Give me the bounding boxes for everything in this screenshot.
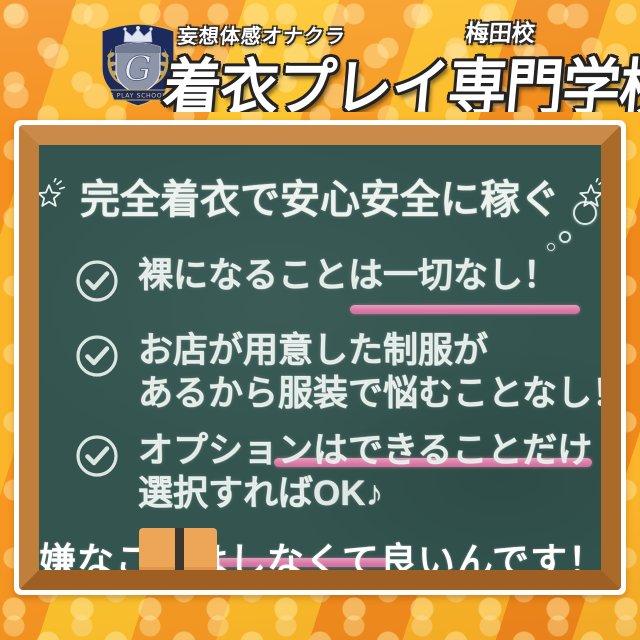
bullet-line: お店が用意した制服が [138, 330, 488, 371]
headline-text: 完全着衣で安心安全に稼ぐ [80, 167, 560, 225]
blackboard-wooden-frame: 完全着衣で安心安全に稼ぐ [19, 125, 621, 590]
bubble-small [547, 243, 555, 251]
pink-chalk [83, 580, 129, 587]
bullet-item: オプションはできることだけ 選択すればOK♪ [73, 430, 583, 515]
board-headline: 完全着衣で安心安全に稼ぐ [39, 167, 601, 225]
white-chalk [351, 580, 385, 587]
closing-statement: 嫌なことはしなくて良いんです！ [39, 531, 601, 570]
bullet-item: 裸になることは一切なし！ [73, 255, 583, 305]
blackboard-panel: 完全着衣で安心安全に稼ぐ [14, 120, 626, 595]
sparkle-star-icon [39, 178, 67, 214]
bullet-line: 裸になることは一切なし！ [138, 255, 558, 296]
promo-banner: G E PLAY SCHOOL 妄想体感オナクラ 着衣プレイ専門学校 梅田校 [0, 0, 640, 640]
bullet-line: 選択すればOK♪ [138, 473, 383, 514]
yellow-chalk [301, 580, 341, 587]
white-chalk [599, 580, 621, 587]
footer-polka-dots [0, 595, 640, 640]
banner-header: G E PLAY SCHOOL 妄想体感オナクラ 着衣プレイ専門学校 梅田校 [0, 0, 640, 112]
check-circle-icon [73, 432, 121, 480]
pink-chalk-underline [350, 305, 580, 314]
header-title: 着衣プレイ専門学校 [160, 38, 640, 112]
closing-text: 嫌なことはしなくて良いんです！ [39, 541, 601, 570]
crest-motto: E PLAY SCHOOL [110, 93, 167, 100]
chalk-tray [39, 570, 601, 590]
bullet-text-block: 裸になることは一切なし！ [138, 255, 558, 296]
blackboard-surface: 完全着衣で安心安全に稼ぐ [39, 145, 601, 570]
branch-badge: 梅田校 [465, 14, 537, 48]
header-text-block: 妄想体感オナクラ 着衣プレイ専門学校 梅田校 [168, 16, 588, 112]
bullet-text-block: オプションはできることだけ 選択すればOK♪ [138, 430, 592, 515]
bubble-medium [559, 231, 571, 243]
bubble-large [573, 201, 597, 225]
banner-footer-strip [0, 595, 640, 640]
blackboard-eraser-icon [139, 528, 217, 570]
bubbles-icon [543, 201, 601, 269]
bullet-item: お店が用意した制服が あるから服装で悩むことなし！ [73, 330, 583, 415]
svg-text:G: G [124, 49, 151, 89]
check-circle-icon [73, 257, 121, 305]
bullet-line: オプションはできることだけ [138, 430, 592, 471]
check-circle-icon [73, 332, 121, 380]
eraser-band [175, 528, 184, 570]
bullet-line: あるから服装で悩むことなし！ [138, 373, 601, 414]
bullet-text-block: お店が用意した制服が あるから服装で悩むことなし！ [138, 330, 601, 415]
